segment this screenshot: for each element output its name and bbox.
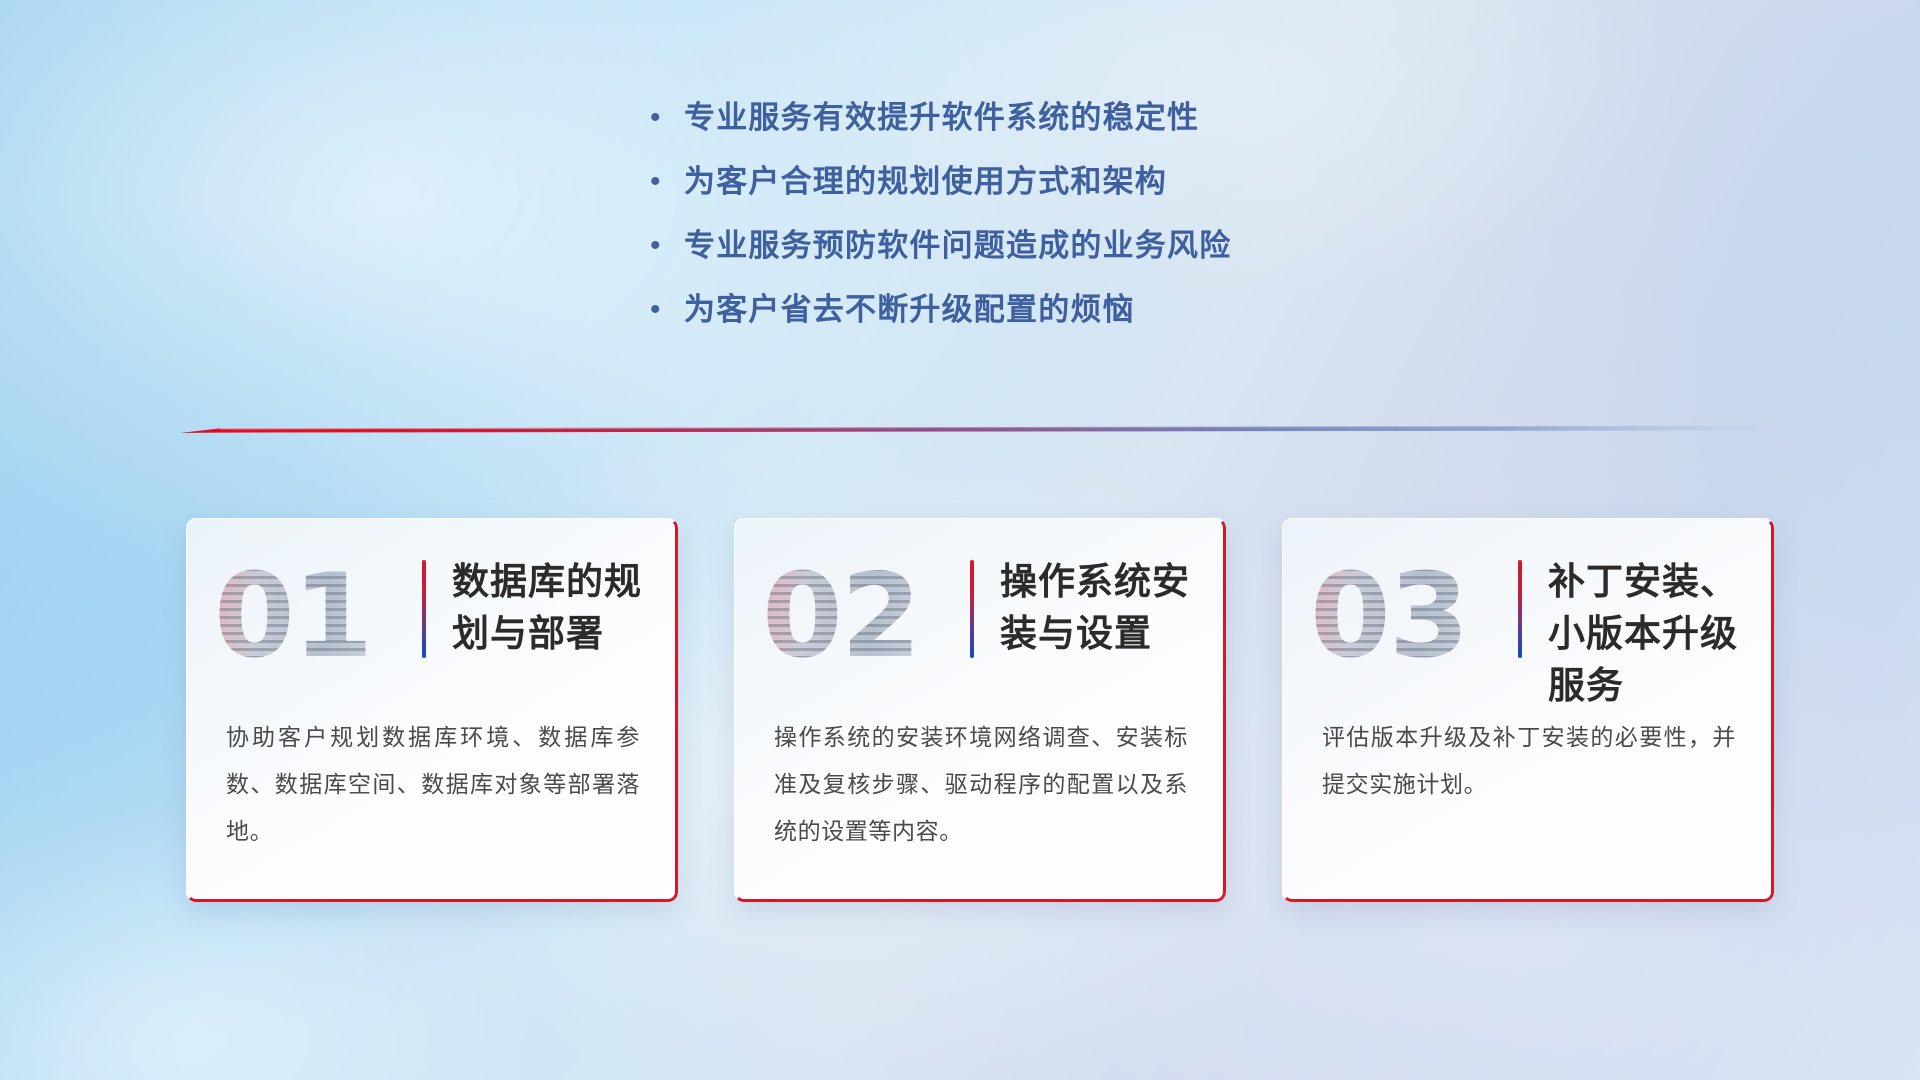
service-card-row: 01 数据库的规划与部署 协助客户规划数据库环境、数据库参数、数据库空间、数据库… <box>186 518 1774 902</box>
card-description: 协助客户规划数据库环境、数据库参数、数据库空间、数据库对象等部署落地。 <box>226 714 640 855</box>
list-item: • 专业服务有效提升软件系统的稳定性 <box>650 96 1231 160</box>
title-accent-rule <box>422 560 426 658</box>
section-divider <box>180 421 1800 437</box>
bullet-label: 专业服务预防软件问题造成的业务风险 <box>684 224 1231 268</box>
bullet-point-icon: • <box>650 288 684 332</box>
card-title: 补丁安装、小版本升级服务 <box>1548 556 1752 712</box>
bullet-label: 专业服务有效提升软件系统的稳定性 <box>684 96 1199 140</box>
bullet-label: 为客户省去不断升级配置的烦恼 <box>684 288 1135 332</box>
bullet-point-icon: • <box>650 96 684 140</box>
bullet-point-icon: • <box>650 224 684 268</box>
card-header: 补丁安装、小版本升级服务 <box>1518 556 1752 712</box>
card-number-watermark: 02 <box>762 552 962 682</box>
bullet-point-icon: • <box>650 160 684 204</box>
card-header: 操作系统安装与设置 <box>970 556 1204 660</box>
card-description: 评估版本升级及补丁安装的必要性，并提交实施计划。 <box>1322 714 1736 808</box>
card-description: 操作系统的安装环境网络调查、安装标准及复核步骤、驱动程序的配置以及系统的设置等内… <box>774 714 1188 855</box>
benefits-bullet-list: • 专业服务有效提升软件系统的稳定性 • 为客户合理的规划使用方式和架构 • 专… <box>650 96 1231 352</box>
bullet-label: 为客户合理的规划使用方式和架构 <box>684 160 1167 204</box>
card-number-watermark: 01 <box>214 552 414 682</box>
list-item: • 为客户省去不断升级配置的烦恼 <box>650 288 1231 352</box>
service-card-02[interactable]: 02 操作系统安装与设置 操作系统的安装环境网络调查、安装标准及复核步骤、驱动程… <box>734 518 1226 902</box>
service-card-01[interactable]: 01 数据库的规划与部署 协助客户规划数据库环境、数据库参数、数据库空间、数据库… <box>186 518 678 902</box>
card-title: 操作系统安装与设置 <box>1000 556 1204 660</box>
list-item: • 专业服务预防软件问题造成的业务风险 <box>650 224 1231 288</box>
card-number-watermark: 03 <box>1310 552 1510 682</box>
service-card-03[interactable]: 03 补丁安装、小版本升级服务 评估版本升级及补丁安装的必要性，并提交实施计划。 <box>1282 518 1774 902</box>
list-item: • 为客户合理的规划使用方式和架构 <box>650 160 1231 224</box>
title-accent-rule <box>970 560 974 658</box>
title-accent-rule <box>1518 560 1522 658</box>
card-header: 数据库的规划与部署 <box>422 556 656 660</box>
card-title: 数据库的规划与部署 <box>452 556 656 660</box>
divider-shape <box>180 421 1800 437</box>
